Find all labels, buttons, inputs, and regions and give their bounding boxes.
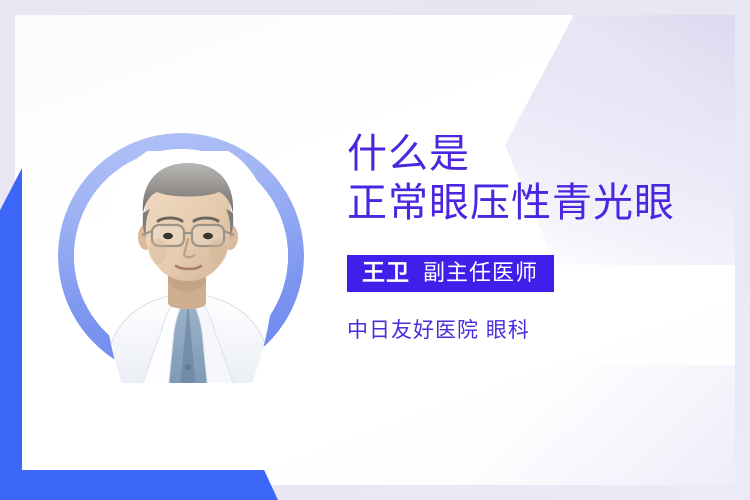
doctor-badge: 王卫 副主任医师 xyxy=(347,255,554,292)
doctor-name: 王卫 xyxy=(362,261,410,284)
bottom-right-wash-decoration xyxy=(435,365,735,485)
bottom-accent-bar xyxy=(0,470,278,500)
doctor-photo-illustration xyxy=(102,151,274,383)
doctor-portrait xyxy=(58,133,316,385)
doctor-intro-card: 什么是 正常眼压性青光眼 王卫 副主任医师 中日友好医院 眼科 xyxy=(0,0,750,500)
left-accent-bar xyxy=(0,168,22,470)
title-line-2: 正常眼压性青光眼 xyxy=(347,179,707,228)
text-column: 什么是 正常眼压性青光眼 王卫 副主任医师 中日友好医院 眼科 xyxy=(347,130,707,344)
title-line-1: 什么是 xyxy=(347,130,707,179)
doctor-rank: 副主任医师 xyxy=(423,262,538,284)
doctor-affiliation: 中日友好医院 眼科 xyxy=(347,314,707,344)
doctor-photo xyxy=(102,151,274,383)
